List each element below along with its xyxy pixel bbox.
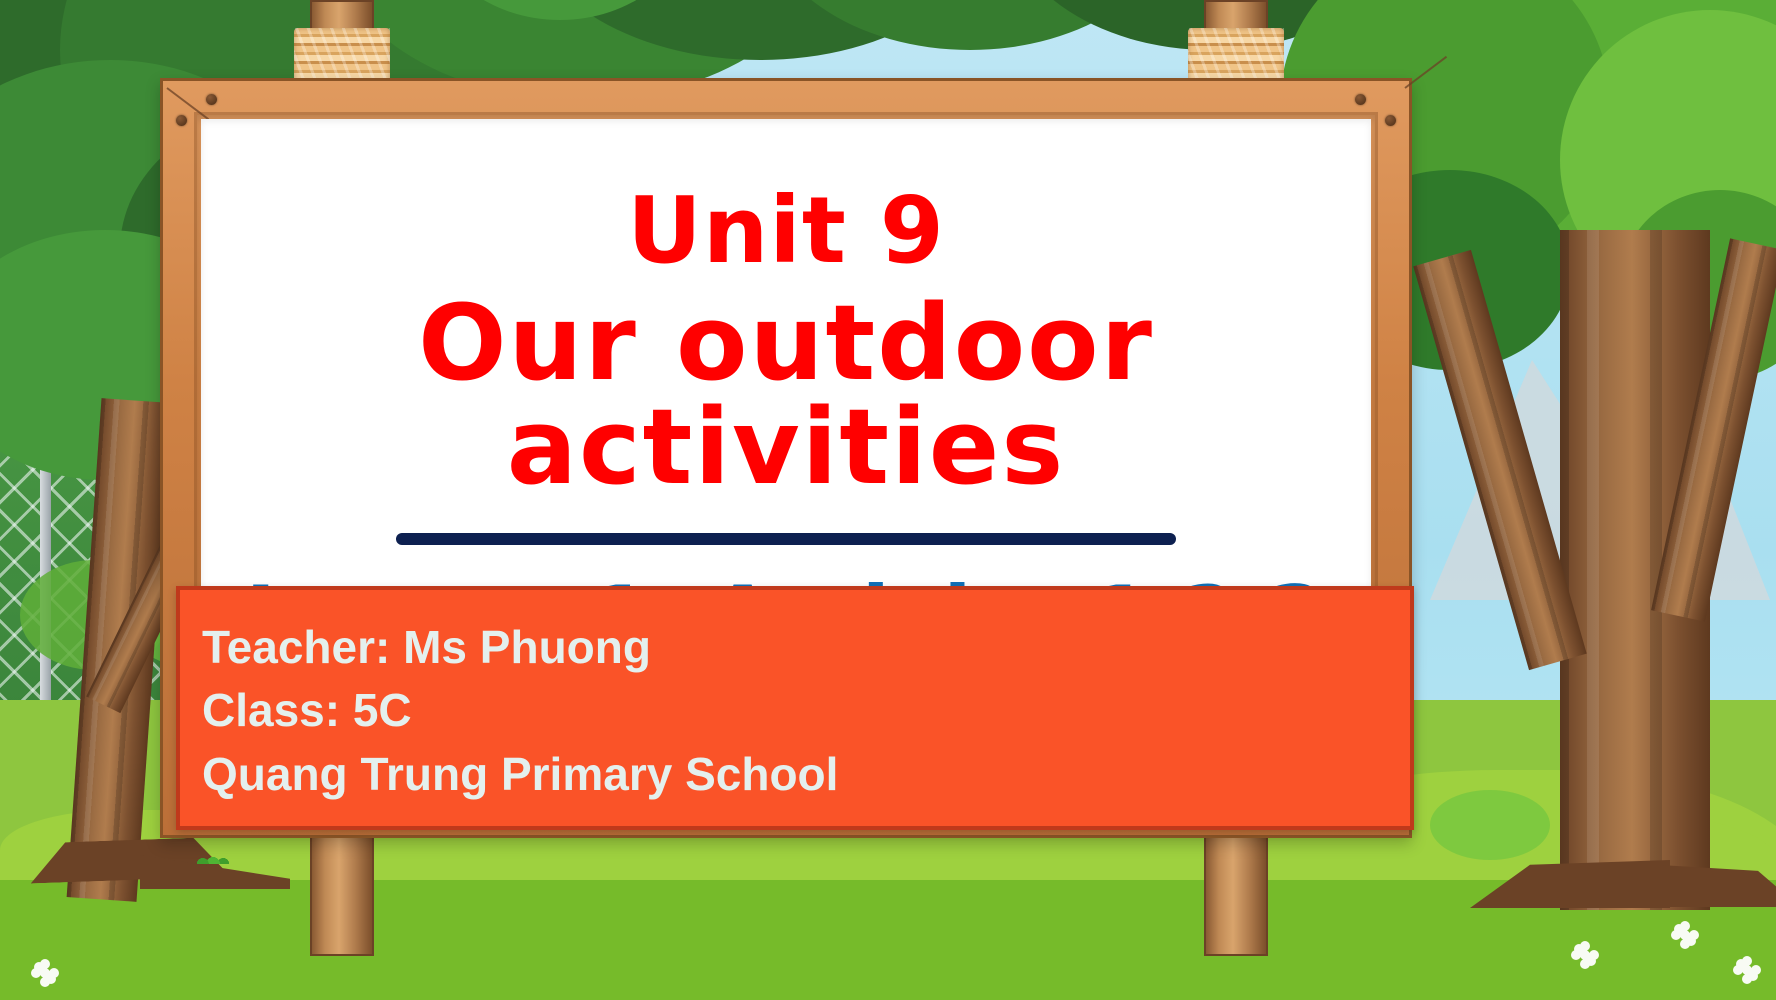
title-divider [396, 533, 1176, 545]
frame-nail [1355, 94, 1366, 105]
grass-tuft [196, 838, 230, 864]
board-post-right-bottom [1204, 826, 1268, 956]
title-line-2: Our outdoor activities [241, 291, 1331, 499]
frame-nail [1385, 115, 1396, 126]
bush-right [1430, 790, 1550, 860]
info-line-school: Quang Trung Primary School [202, 743, 1410, 806]
miter-line-top-left [166, 87, 209, 120]
info-line-class: Class: 5C [202, 679, 1410, 742]
info-box: Teacher: Ms Phuong Class: 5C Quang Trung… [176, 586, 1414, 830]
flower [40, 968, 50, 978]
frame-nail [206, 94, 217, 105]
title-line-1: Unit 9 [241, 185, 1331, 277]
flower [1742, 965, 1752, 975]
frame-nail [176, 115, 187, 126]
flower [1580, 950, 1590, 960]
flower [1680, 930, 1690, 940]
info-line-teacher: Teacher: Ms Phuong [202, 616, 1410, 679]
slide-canvas: Unit 9 Our outdoor activities Lesson 1: … [0, 0, 1776, 1000]
board-post-left-bottom [310, 826, 374, 956]
